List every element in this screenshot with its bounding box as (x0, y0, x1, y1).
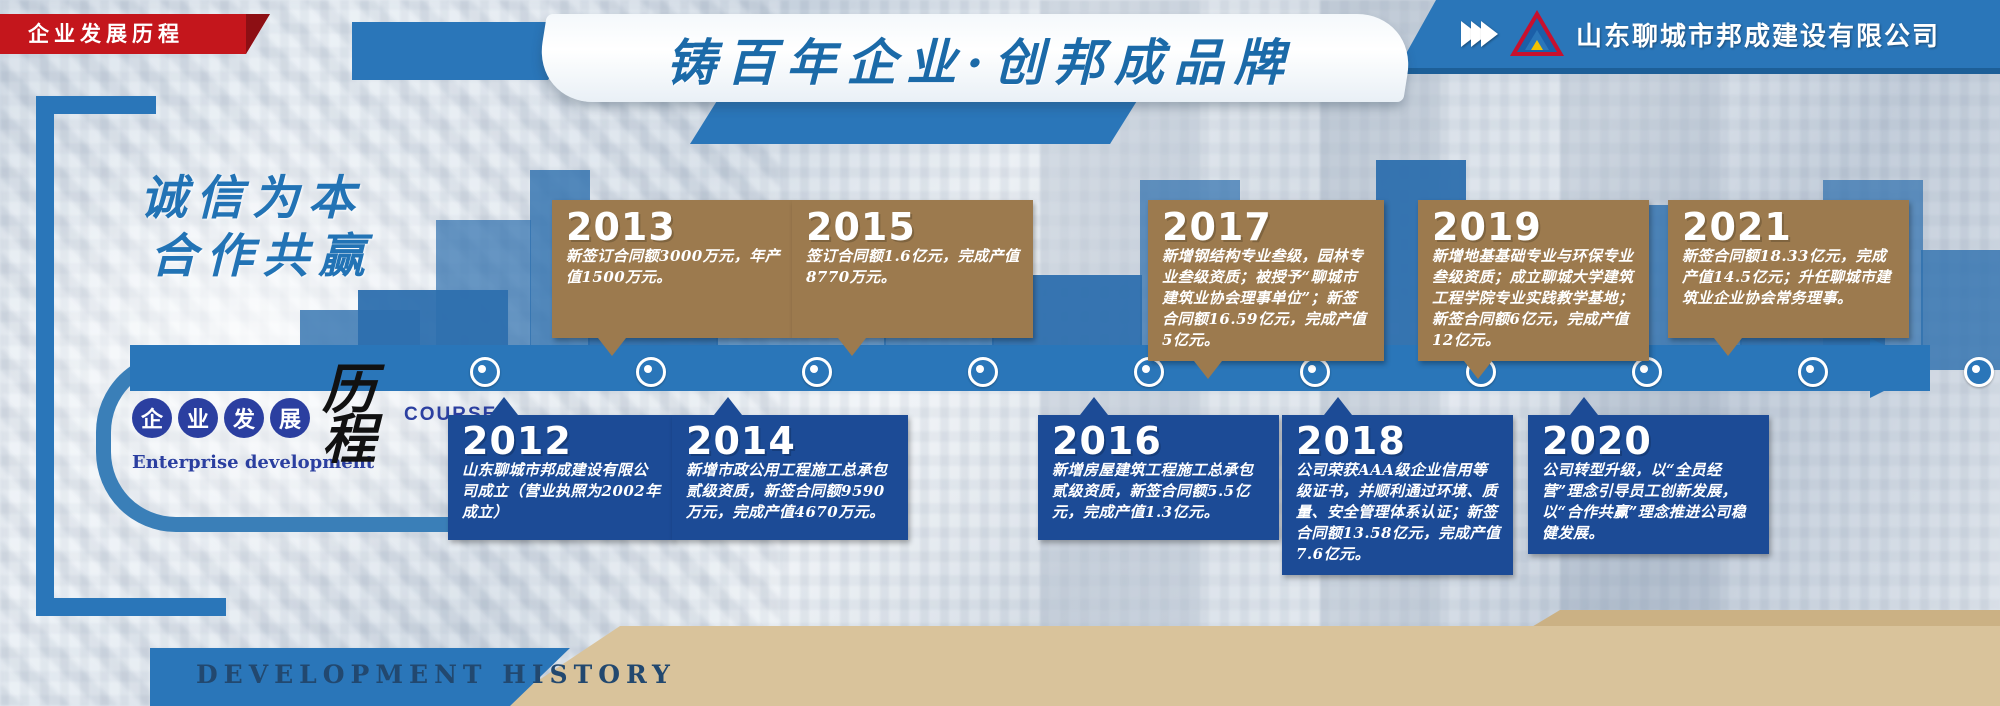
card-pointer (1714, 338, 1742, 356)
card-pointer (1194, 361, 1222, 379)
left-frame-strip-bottom (36, 598, 226, 616)
timeline-card-2018[interactable]: 2018公司荣获AAA级企业信用等级证书，并顺利通过环境、质量、安全管理体系认证… (1282, 415, 1513, 575)
timeline-node[interactable] (802, 357, 832, 387)
card-text: 新增钢结构专业叁级，园林专业叁级资质；被授予“聊城市建筑业协会理事单位”；新签合… (1162, 246, 1372, 351)
left-frame-strip (36, 96, 54, 616)
course-badge: 企业发展 Enterprise development 历程 COURSE (126, 398, 456, 510)
banner-accent-bottom (690, 96, 1140, 144)
card-pointer (1324, 397, 1352, 415)
timeline-card-2014[interactable]: 2014新增市政公用工程施工总承包贰级资质，新签合同额9590万元，完成产值46… (672, 415, 908, 540)
card-year: 2019 (1432, 208, 1637, 246)
card-year: 2020 (1542, 422, 1757, 460)
card-text: 新签订合同额3000万元，年产值1500万元。 (566, 246, 781, 288)
footer-development-history: DEVELOPMENT HISTORY (196, 660, 676, 689)
timeline-card-2017[interactable]: 2017新增钢结构专业叁级，园林专业叁级资质；被授予“聊城市建筑业协会理事单位”… (1148, 200, 1384, 361)
main-title-text: 铸百年企业·创邦成品牌 (666, 23, 1293, 95)
timeline-card-2019[interactable]: 2019新增地基基础专业与环保专业叁级资质；成立聊城大学建筑工程学院专业实践教学… (1418, 200, 1649, 361)
card-year: 2013 (566, 208, 781, 246)
card-pointer (838, 338, 866, 356)
badge-circle-1: 企 (132, 398, 172, 438)
card-year: 2018 (1296, 422, 1501, 460)
slogan: 诚信为本 合作共赢 (140, 170, 374, 286)
skyline-building (1921, 250, 2000, 370)
card-year: 2012 (462, 422, 662, 460)
timeline-card-2020[interactable]: 2020公司转型升级，以“全员经营”理念引导员工创新发展，以“合作共赢”理念推进… (1528, 415, 1769, 554)
badge-circle-3: 发 (224, 398, 264, 438)
badge-circle-2: 业 (178, 398, 218, 438)
slogan-line-2: 合作共赢 (140, 228, 374, 286)
card-pointer (1570, 397, 1598, 415)
triangle-logo-icon (1510, 10, 1564, 58)
timeline-node[interactable] (1632, 357, 1662, 387)
card-pointer (490, 397, 518, 415)
timeline-node[interactable] (1798, 357, 1828, 387)
card-year: 2015 (806, 208, 1021, 246)
card-pointer (714, 397, 742, 415)
timeline-node[interactable] (968, 357, 998, 387)
card-text: 新增市政公用工程施工总承包贰级资质，新签合同额9590万元，完成产值4670万元… (686, 460, 896, 523)
timeline-node[interactable] (470, 357, 500, 387)
timeline-node[interactable] (1964, 357, 1994, 387)
slogan-line-1: 诚信为本 (140, 170, 374, 228)
section-ribbon-label: 企业发展历程 (0, 14, 270, 54)
card-text: 新增地基基础专业与环保专业叁级资质；成立聊城大学建筑工程学院专业实践教学基地；新… (1432, 246, 1637, 351)
timeline-card-2013[interactable]: 2013新签订合同额3000万元，年产值1500万元。 (552, 200, 793, 338)
company-name: 山东聊城市邦成建设有限公司 (1576, 16, 1940, 53)
card-text: 公司转型升级，以“全员经营”理念引导员工创新发展，以“合作共赢”理念推进公司稳健… (1542, 460, 1757, 544)
card-year: 2014 (686, 422, 896, 460)
card-text: 新签合同额18.33亿元，完成产值14.5亿元；升任聊城市建筑业企业协会常务理事… (1682, 246, 1897, 309)
card-text: 公司荣获AAA级企业信用等级证书，并顺利通过环境、质量、安全管理体系认证；新签合… (1296, 460, 1501, 565)
card-year: 2017 (1162, 208, 1372, 246)
timeline-arrow-head (1870, 338, 1930, 398)
main-title: 铸百年企业·创邦成品牌 (600, 20, 1360, 98)
card-pointer (1464, 361, 1492, 379)
card-pointer (598, 338, 626, 356)
footer-tan-shape (500, 626, 2000, 706)
badge-calligraphy: 历程 (322, 364, 392, 464)
card-year: 2016 (1052, 422, 1267, 460)
company-brand: 山东聊城市邦成建设有限公司 (1468, 8, 1940, 60)
left-frame-strip-top (36, 96, 156, 114)
timeline-node[interactable] (636, 357, 666, 387)
card-text: 签订合同额1.6亿元，完成产值8770万元。 (806, 246, 1021, 288)
card-text: 山东聊城市邦成建设有限公司成立（营业执照为2002年成立） (462, 460, 662, 523)
infographic-canvas: 企业发展历程 铸百年企业·创邦成品牌 山东聊城市邦成建设有限公司 诚信为本 合作… (0, 0, 2000, 706)
timeline-card-2016[interactable]: 2016新增房屋建筑工程施工总承包贰级资质，新签合同额5.5亿元，完成产值1.3… (1038, 415, 1279, 540)
section-ribbon: 企业发展历程 (0, 14, 270, 54)
badge-english-label: Enterprise development (132, 452, 456, 473)
card-year: 2021 (1682, 208, 1897, 246)
timeline-card-2012[interactable]: 2012山东聊城市邦成建设有限公司成立（营业执照为2002年成立） (448, 415, 674, 540)
timeline-card-2021[interactable]: 2021新签合同额18.33亿元，完成产值14.5亿元；升任聊城市建筑业企业协会… (1668, 200, 1909, 338)
timeline-node[interactable] (1300, 357, 1330, 387)
badge-circle-4: 展 (270, 398, 310, 438)
timeline-card-2015[interactable]: 2015签订合同额1.6亿元，完成产值8770万元。 (792, 200, 1033, 338)
double-chevron-right-icon (1468, 21, 1498, 47)
card-pointer (1080, 397, 1108, 415)
card-text: 新增房屋建筑工程施工总承包贰级资质，新签合同额5.5亿元，完成产值1.3亿元。 (1052, 460, 1267, 523)
timeline-node[interactable] (1134, 357, 1164, 387)
